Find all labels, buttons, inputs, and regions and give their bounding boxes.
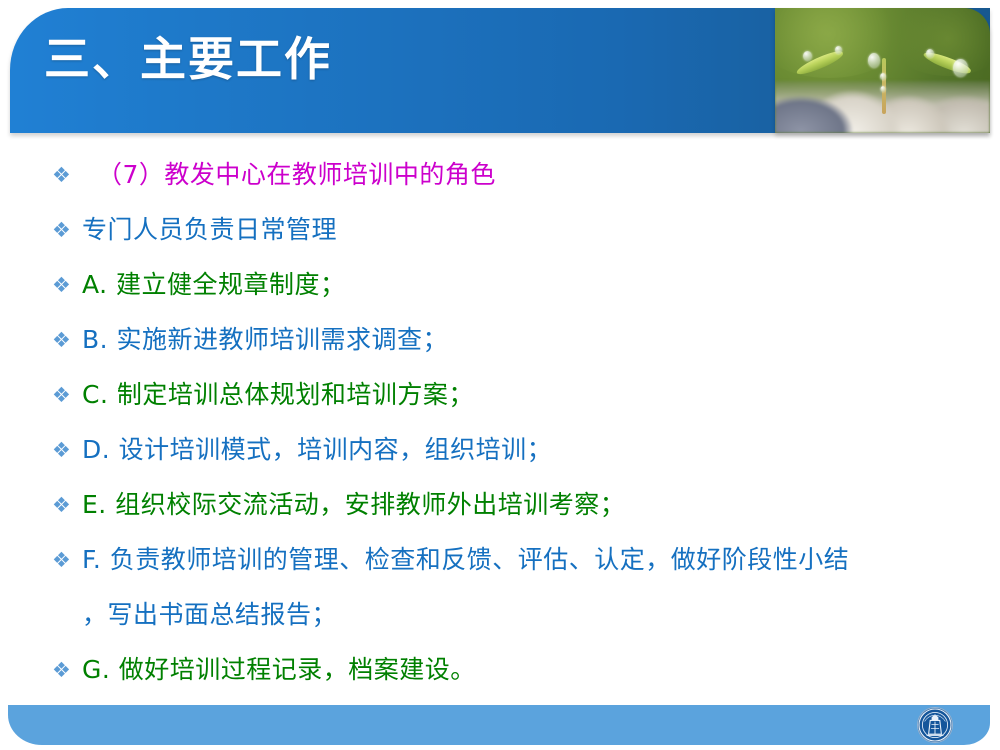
list-item: ❖ D. 设计培训模式，培训内容，组织培训； xyxy=(52,433,964,467)
diamond-bullet-icon: ❖ xyxy=(52,323,82,357)
list-item-text: B. 实施新进教师培训需求调查； xyxy=(82,323,964,357)
bullet-list: ❖ （7）教发中心在教师培训中的角色 ❖ 专门人员负责日常管理 ❖ A. 建立健… xyxy=(52,158,964,708)
page-title: 三、主要工作 xyxy=(44,34,332,85)
list-item: ❖ E. 组织校际交流活动，安排教师外出培训考察； xyxy=(52,488,964,522)
slide: 三、主要工作 ❖ （7）教发中心在教师培训中的角色 ❖ 专门人员负责日常管理 ❖… xyxy=(0,0,1000,750)
diamond-bullet-icon: ❖ xyxy=(52,433,82,467)
list-item-continuation: ，写出书面总结报告； xyxy=(52,598,964,632)
diamond-bullet-icon: ❖ xyxy=(52,543,82,577)
diamond-bullet-icon: ❖ xyxy=(52,653,82,687)
list-item-text: G. 做好培训过程记录，档案建设。 xyxy=(82,653,964,687)
water-droplet xyxy=(868,53,880,68)
list-item: ❖ 专门人员负责日常管理 xyxy=(52,213,964,247)
list-item-text: D. 设计培训模式，培训内容，组织培训； xyxy=(82,433,964,467)
list-item: ❖ （7）教发中心在教师培训中的角色 xyxy=(52,158,964,192)
diamond-bullet-icon: ❖ xyxy=(52,268,82,302)
list-item: ❖ B. 实施新进教师培训需求调查； xyxy=(52,323,964,357)
water-droplet xyxy=(803,51,812,61)
list-item-text: E. 组织校际交流活动，安排教师外出培训考察； xyxy=(82,488,964,522)
diamond-bullet-icon: ❖ xyxy=(52,378,82,412)
slide-footer-band xyxy=(8,705,990,745)
list-item: ❖ F. 负责教师培训的管理、检查和反馈、评估、认定，做好阶段性小结 xyxy=(52,543,964,577)
list-item-text: ，写出书面总结报告； xyxy=(82,598,964,632)
list-item-text: F. 负责教师培训的管理、检查和反馈、评估、认定，做好阶段性小结 xyxy=(82,543,964,577)
water-droplet xyxy=(835,46,842,54)
list-item: ❖ A. 建立健全规章制度； xyxy=(52,268,964,302)
diamond-bullet-icon: ❖ xyxy=(52,213,82,247)
water-droplet xyxy=(880,73,886,80)
list-item-text: 专门人员负责日常管理 xyxy=(82,213,964,247)
list-item: ❖ G. 做好培训过程记录，档案建设。 xyxy=(52,653,964,687)
diamond-bullet-icon: ❖ xyxy=(52,158,82,192)
university-seal-logo-icon xyxy=(917,707,953,743)
list-item-text: C. 制定培训总体规划和培训方案； xyxy=(82,378,964,412)
water-droplet xyxy=(880,86,885,92)
diamond-bullet-icon: ❖ xyxy=(52,488,82,522)
list-item-text: （7）教发中心在教师培训中的角色 xyxy=(82,158,964,192)
header-photo-seedling xyxy=(775,8,990,133)
list-item-text: A. 建立健全规章制度； xyxy=(82,268,964,302)
list-item: ❖ C. 制定培训总体规划和培训方案； xyxy=(52,378,964,412)
